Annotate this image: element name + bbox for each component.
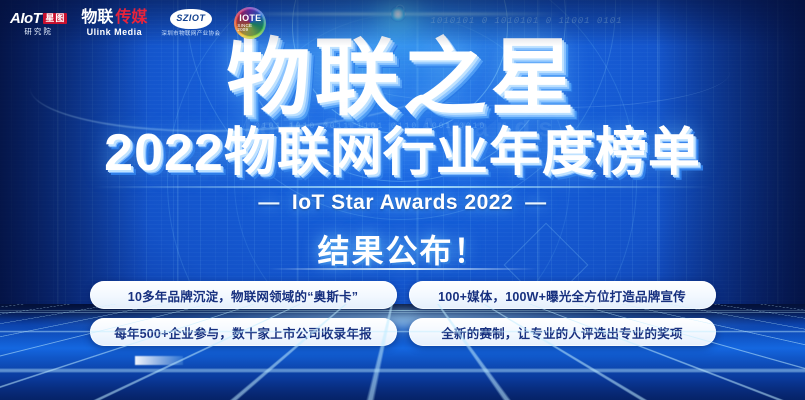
announcement-underline-rule xyxy=(269,268,537,270)
logo-ulink-cn-row: 物联 传媒 xyxy=(81,10,147,26)
logo-iote-inner: IOTE SINCE 2009 xyxy=(237,10,263,36)
logo-ulink-sub: Ulink Media xyxy=(87,28,143,37)
subtitle-english: IoT Star Awards 2022 xyxy=(292,191,513,214)
logo-iote-main: IOTE xyxy=(239,14,261,23)
logo-ulink-media[interactable]: 物联 传媒 Ulink Media xyxy=(81,10,147,37)
globe-icon: IOTE SINCE 2009 xyxy=(234,7,266,39)
poster-content: 物联之星 2022物联网行业年度榜单 —IoT Star Awards 2022… xyxy=(0,0,805,400)
logo-sziot[interactable]: SZIOT 深圳市物联网产业协会 xyxy=(161,9,220,38)
poster-root: 1010101 0 1010101 0 11001 0101 0101 1010… xyxy=(0,0,805,400)
badge-new-format[interactable]: 全新的赛制，让专业的人评选出专业的奖项 xyxy=(409,318,716,346)
announcement-text: 结果公布！ xyxy=(317,226,487,272)
logo-aiot-mark-row: AIoT 星图 xyxy=(10,11,67,26)
subtitle-dash-left: — xyxy=(258,191,280,215)
logo-aiot-research-institute[interactable]: AIoT 星图 研究院 xyxy=(10,11,67,36)
logo-sziot-badge: SZIOT xyxy=(170,9,212,29)
logo-sziot-sub: 深圳市物联网产业协会 xyxy=(161,32,220,38)
logo-iote-sub: SINCE 2009 xyxy=(237,24,263,33)
logo-ulink-cn-red: 传媒 xyxy=(115,10,147,26)
subtitle-english-row: —IoT Star Awards 2022— xyxy=(0,191,805,215)
title-underline-rule xyxy=(93,186,713,188)
sponsor-logo-bar: AIoT 星图 研究院 物联 传媒 Ulink Media SZIOT 深圳市物… xyxy=(0,0,805,46)
logo-aiot-cn-badge: 星图 xyxy=(43,13,67,24)
main-title: 物联之星 xyxy=(0,36,805,120)
logo-iote[interactable]: IOTE SINCE 2009 xyxy=(234,7,266,39)
logo-aiot-sub: 研究院 xyxy=(24,28,53,36)
logo-ulink-cn-dark: 物联 xyxy=(81,10,113,26)
badge-brand-heritage[interactable]: 10多年品牌沉淀，物联网领域的“奥斯卡” xyxy=(90,281,397,309)
badge-media-exposure[interactable]: 100+媒体，100W+曝光全方位打造品牌宣传 xyxy=(409,281,716,309)
sub-title-cn: 2022物联网行业年度榜单 xyxy=(0,127,805,179)
subtitle-dash-right: — xyxy=(525,191,547,215)
highlight-badge-list: 10多年品牌沉淀，物联网领域的“奥斯卡” 100+媒体，100W+曝光全方位打造… xyxy=(0,281,805,346)
logo-aiot-mark: AIoT xyxy=(10,11,41,26)
badge-participants[interactable]: 每年500+企业参与，数十家上市公司收录年报 xyxy=(90,318,397,346)
announcement-row: 结果公布！ xyxy=(0,226,805,272)
